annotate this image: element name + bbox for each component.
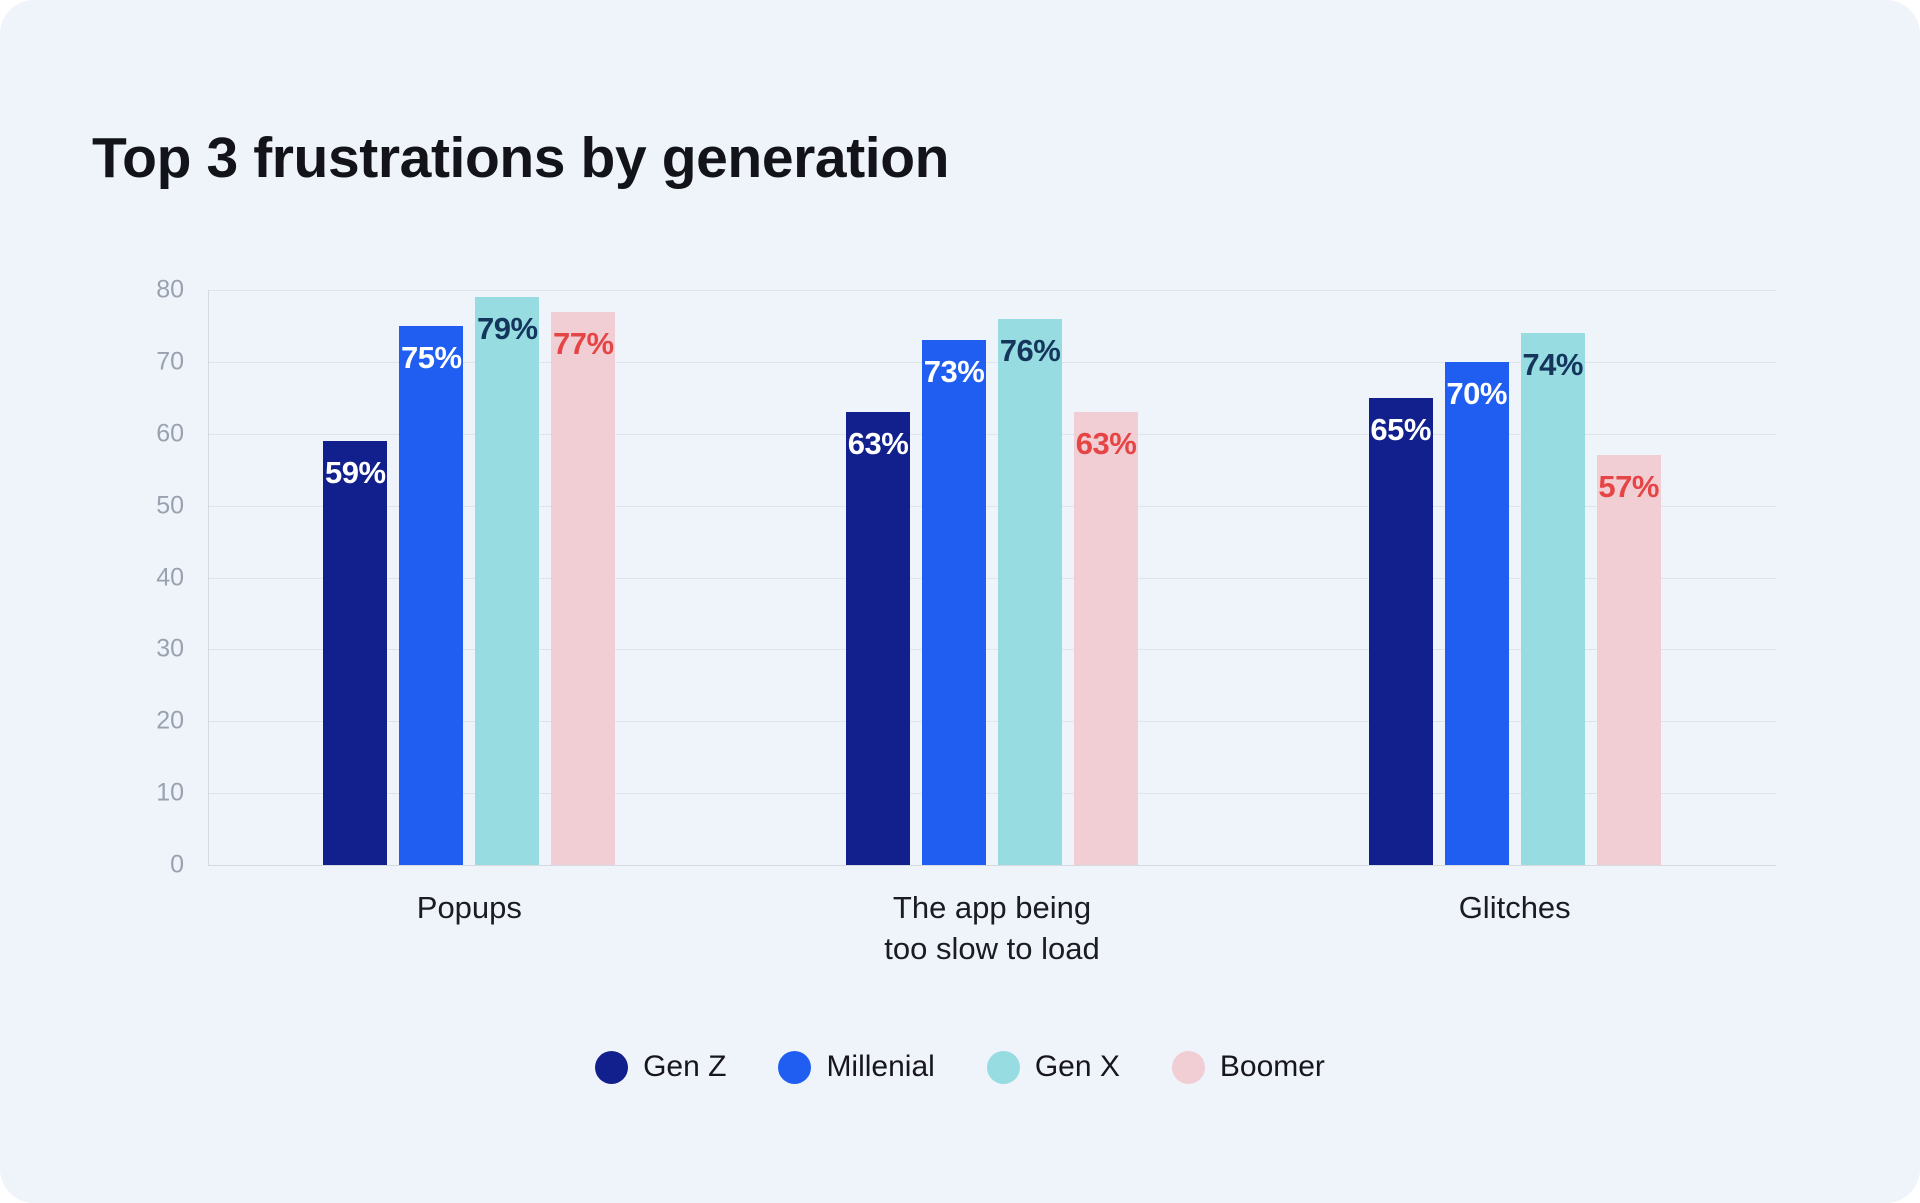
bar-value-label: 57% bbox=[1598, 469, 1659, 505]
bar-value-label: 75% bbox=[401, 340, 462, 376]
bar-millenial[interactable]: 70% bbox=[1445, 362, 1509, 865]
y-axis-tick-label: 40 bbox=[120, 563, 184, 592]
y-axis-tick-label: 50 bbox=[120, 491, 184, 520]
x-axis-category-label: The app being too slow to load bbox=[731, 888, 1254, 970]
bar-group-bars: 63%73%76%63% bbox=[731, 290, 1254, 865]
bar-value-label: 74% bbox=[1522, 347, 1583, 383]
y-axis-tick-label: 10 bbox=[120, 779, 184, 808]
bar-value-label: 70% bbox=[1446, 376, 1507, 412]
y-axis-tick-label: 70 bbox=[120, 347, 184, 376]
bar-value-label: 59% bbox=[325, 455, 386, 491]
bar-boomer[interactable]: 77% bbox=[551, 312, 615, 865]
bar-group: 65%70%74%57% bbox=[1253, 290, 1776, 865]
bar-group-bars: 65%70%74%57% bbox=[1253, 290, 1776, 865]
bar-boomer[interactable]: 57% bbox=[1597, 455, 1661, 865]
legend-item-gen-x[interactable]: Gen X bbox=[987, 1050, 1120, 1084]
bar-group: 63%73%76%63% bbox=[731, 290, 1254, 865]
legend-item-gen-z[interactable]: Gen Z bbox=[595, 1050, 726, 1084]
x-axis-line bbox=[208, 865, 1776, 866]
y-axis-tick-label: 30 bbox=[120, 635, 184, 664]
chart-legend: Gen ZMillenialGen XBoomer bbox=[0, 1050, 1920, 1084]
legend-swatch-icon bbox=[1172, 1051, 1205, 1084]
bar-value-label: 79% bbox=[477, 311, 538, 347]
legend-swatch-icon bbox=[987, 1051, 1020, 1084]
bar-gen-x[interactable]: 76% bbox=[998, 319, 1062, 865]
bar-millenial[interactable]: 75% bbox=[399, 326, 463, 865]
y-axis-tick-label: 0 bbox=[120, 851, 184, 880]
legend-item-boomer[interactable]: Boomer bbox=[1172, 1050, 1325, 1084]
bar-value-label: 65% bbox=[1370, 412, 1431, 448]
legend-label: Boomer bbox=[1220, 1050, 1325, 1084]
bar-millenial[interactable]: 73% bbox=[922, 340, 986, 865]
x-axis-category-labels: PopupsThe app being too slow to loadGlit… bbox=[208, 888, 1776, 970]
bar-value-label: 63% bbox=[1076, 426, 1137, 462]
bar-value-label: 76% bbox=[1000, 333, 1061, 369]
legend-swatch-icon bbox=[778, 1051, 811, 1084]
bar-boomer[interactable]: 63% bbox=[1074, 412, 1138, 865]
legend-label: Millenial bbox=[826, 1050, 934, 1084]
bar-gen-z[interactable]: 63% bbox=[846, 412, 910, 865]
bar-group: 59%75%79%77% bbox=[208, 290, 731, 865]
bar-gen-z[interactable]: 59% bbox=[323, 441, 387, 865]
chart-card: Top 3 frustrations by generation 8070605… bbox=[0, 0, 1920, 1203]
bar-gen-x[interactable]: 79% bbox=[475, 297, 539, 865]
bar-group-bars: 59%75%79%77% bbox=[208, 290, 731, 865]
bar-groups: 59%75%79%77%63%73%76%63%65%70%74%57% bbox=[208, 290, 1776, 865]
legend-label: Gen X bbox=[1035, 1050, 1120, 1084]
bar-value-label: 73% bbox=[924, 354, 985, 390]
bar-gen-x[interactable]: 74% bbox=[1521, 333, 1585, 865]
legend-swatch-icon bbox=[595, 1051, 628, 1084]
y-axis-tick-label: 80 bbox=[120, 276, 184, 305]
x-axis-category-label: Popups bbox=[208, 888, 731, 970]
bar-value-label: 63% bbox=[848, 426, 909, 462]
bar-value-label: 77% bbox=[553, 326, 614, 362]
x-axis-category-label: Glitches bbox=[1253, 888, 1776, 970]
y-axis-tick-label: 60 bbox=[120, 419, 184, 448]
bar-gen-z[interactable]: 65% bbox=[1369, 398, 1433, 865]
legend-item-millenial[interactable]: Millenial bbox=[778, 1050, 934, 1084]
y-axis-labels: 80706050403020100 bbox=[84, 290, 184, 865]
legend-label: Gen Z bbox=[643, 1050, 726, 1084]
y-axis-tick-label: 20 bbox=[120, 707, 184, 736]
page-title: Top 3 frustrations by generation bbox=[92, 125, 949, 191]
